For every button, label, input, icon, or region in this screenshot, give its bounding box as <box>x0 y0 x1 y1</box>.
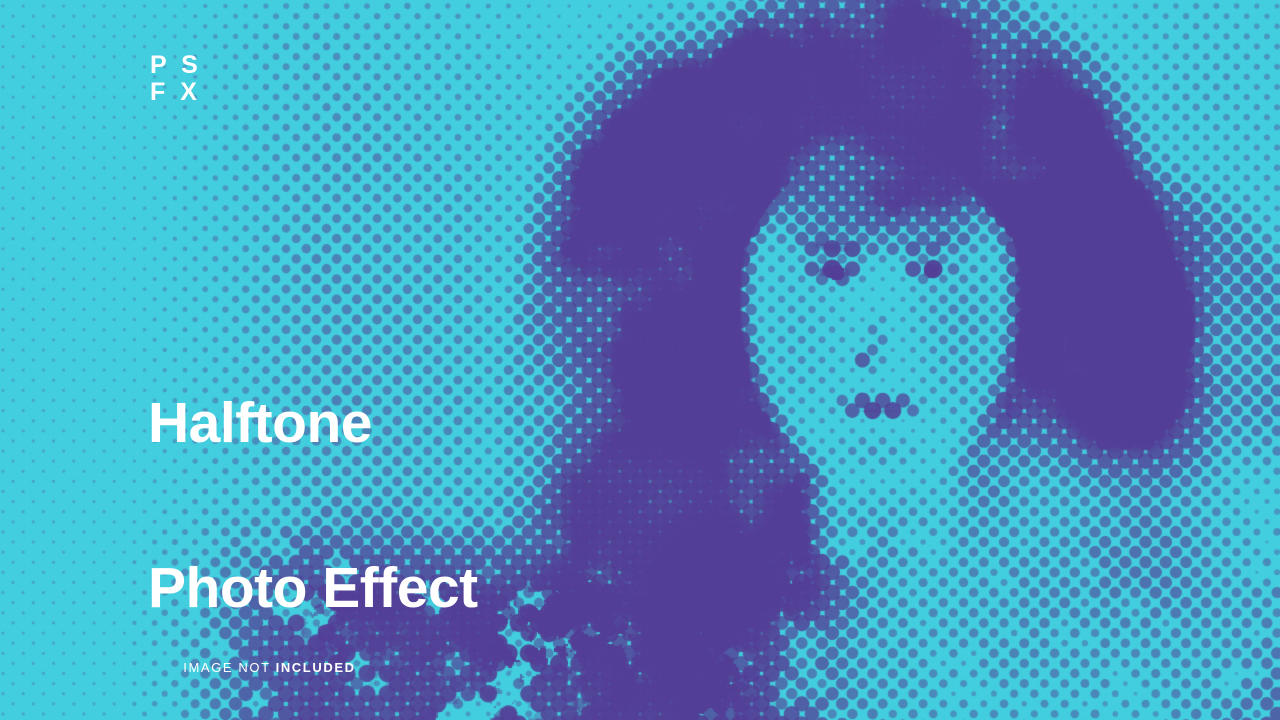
halftone-artwork <box>0 0 1280 720</box>
brand-logo[interactable]: P S F X <box>150 52 202 106</box>
poster-canvas: P S F X Halftone Photo Effect IMAGE NOT … <box>0 0 1280 720</box>
brand-logo-line-2: F X <box>150 79 202 106</box>
brand-logo-line-1: P S <box>150 52 202 79</box>
